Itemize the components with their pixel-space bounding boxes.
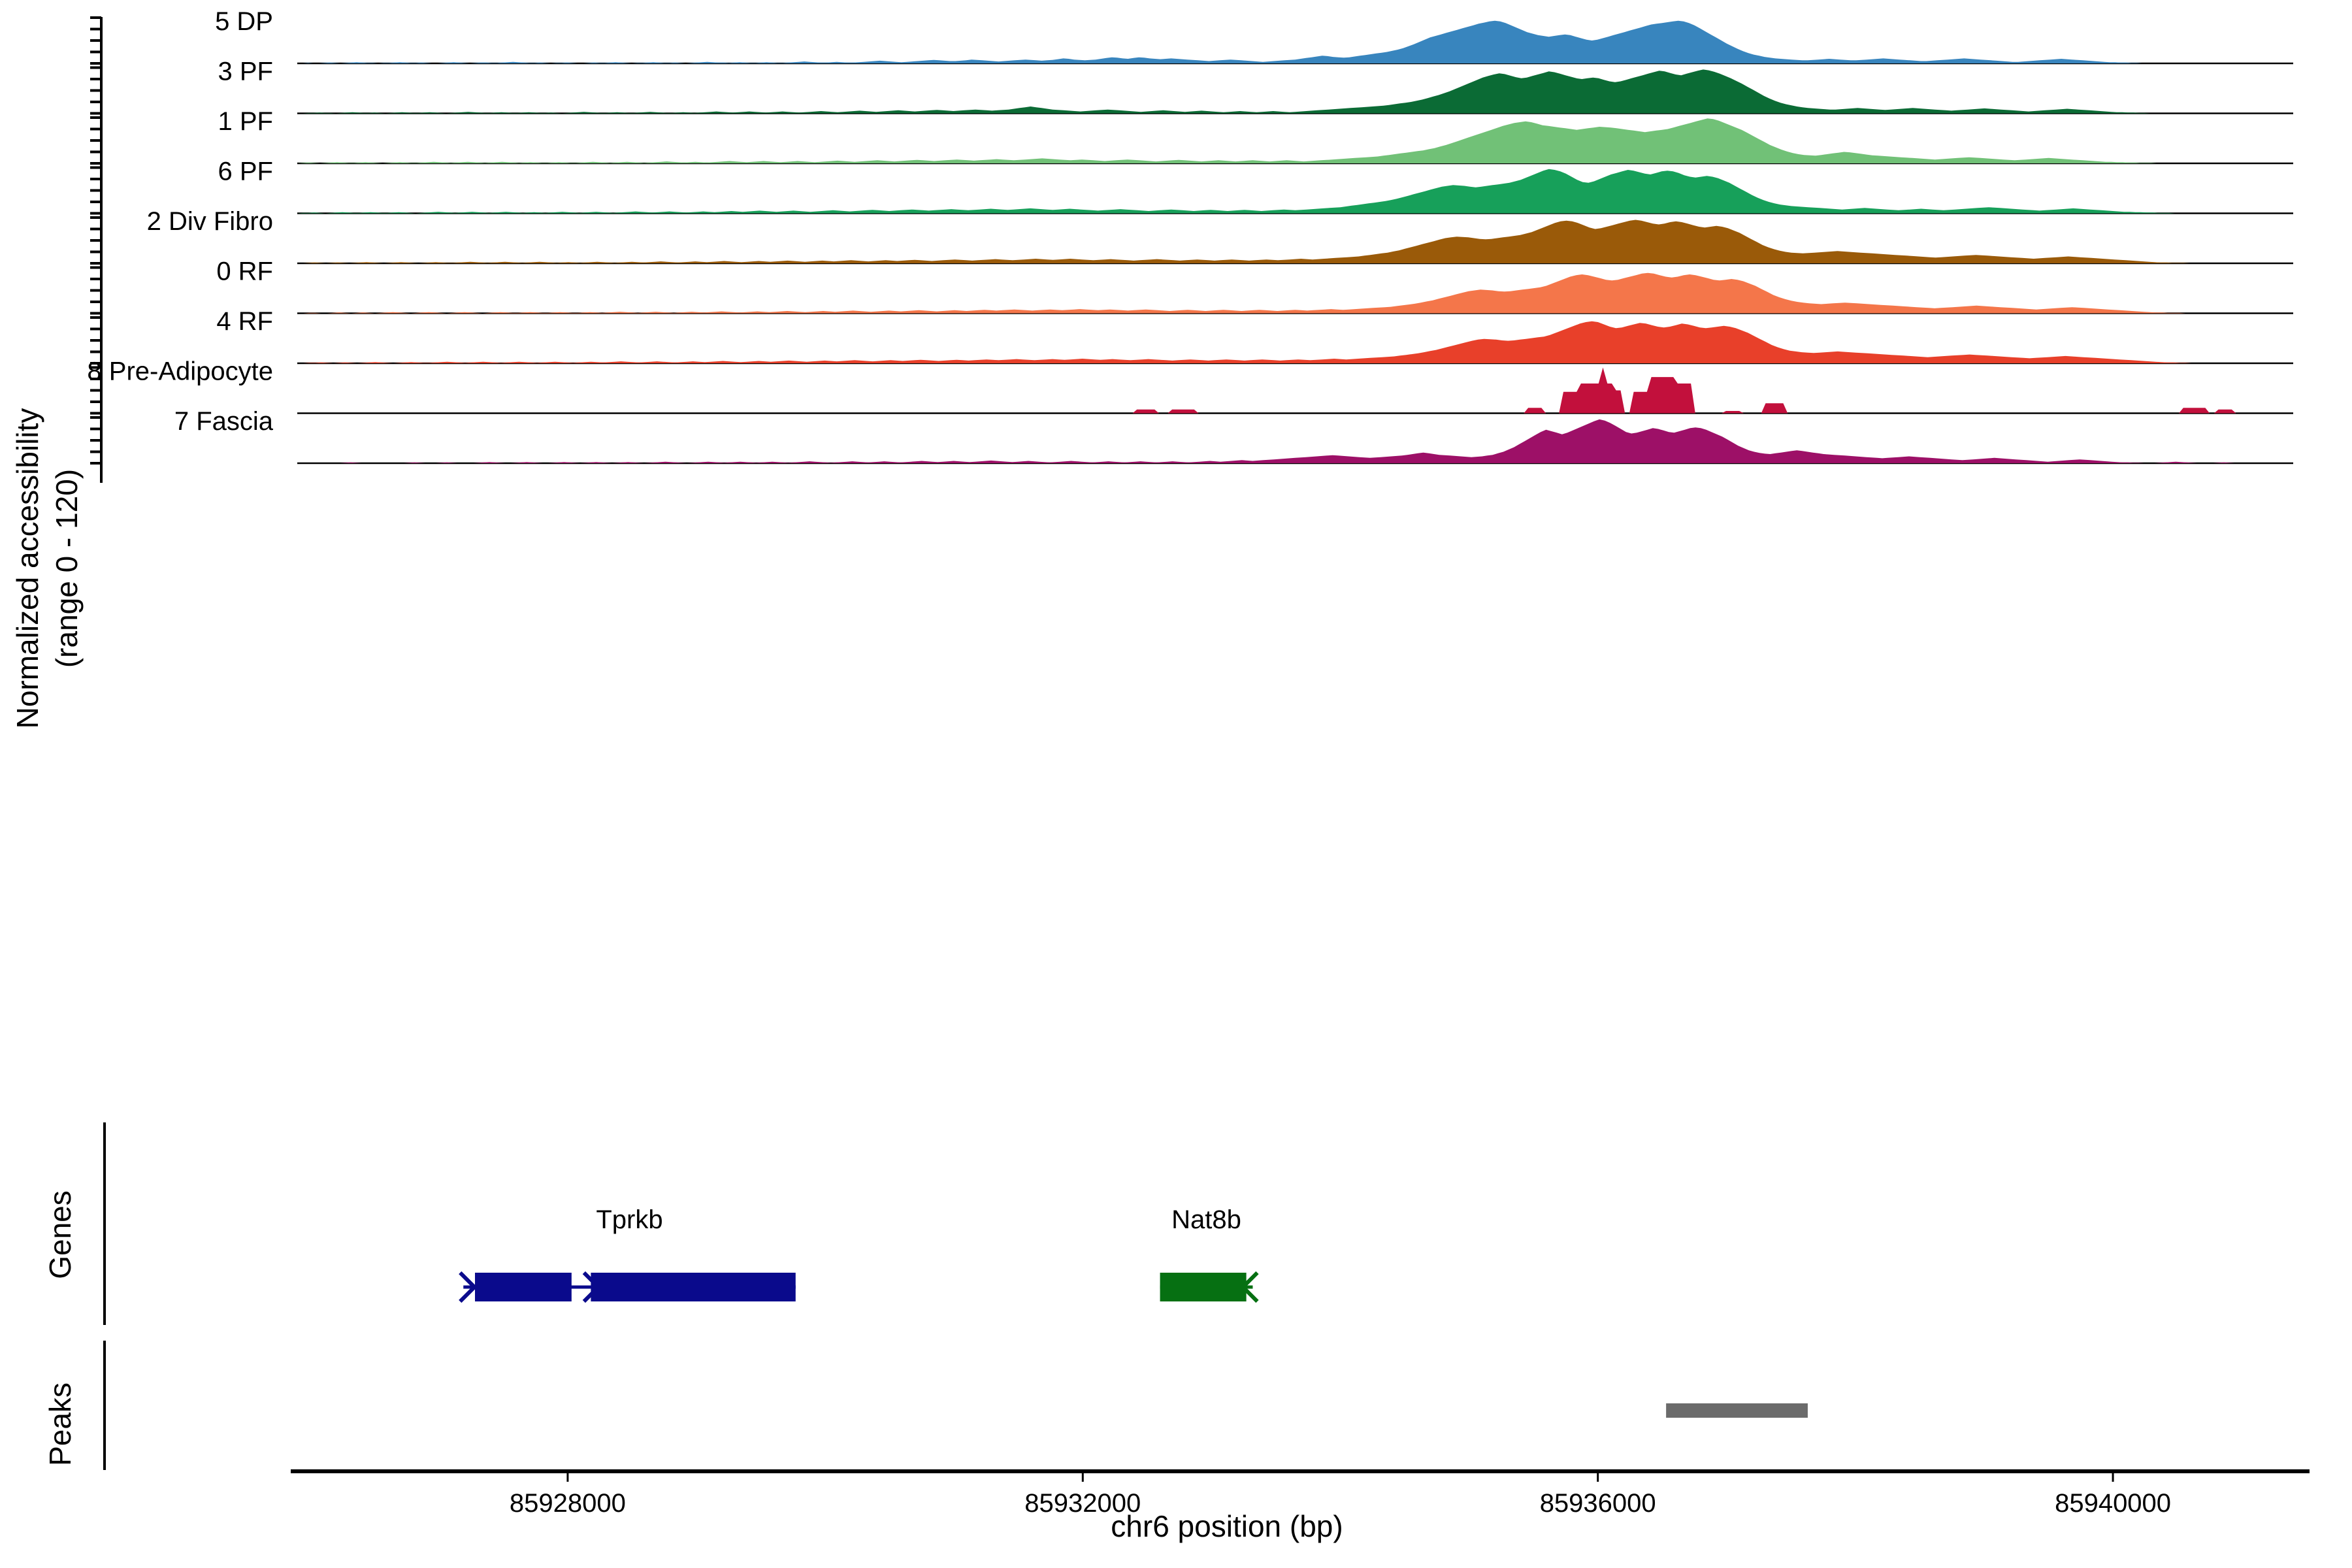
gene-name-label: Tprkb	[596, 1205, 662, 1234]
x-axis-tick-label: 85936000	[1540, 1489, 1656, 1518]
genes-axis-title: Genes	[43, 1190, 77, 1279]
gene-exon	[591, 1273, 795, 1301]
track-label: 0 RF	[216, 257, 273, 286]
gene-name-label: Nat8b	[1171, 1205, 1241, 1234]
genome-browser-figure: Normalized accessibility (range 0 - 120)…	[0, 0, 2352, 1568]
x-axis-tick-label: 85928000	[510, 1489, 626, 1518]
x-axis-tick-label: 85940000	[2055, 1489, 2171, 1518]
gene-exon	[1160, 1273, 1247, 1301]
figure-root: Normalized accessibility (range 0 - 120)…	[0, 0, 2352, 1568]
track-label: 4 RF	[216, 307, 273, 336]
track-label: 3 PF	[218, 57, 273, 86]
y-axis-title-line1: Normalized accessibility	[10, 408, 44, 729]
peaks-axis-title: Peaks	[43, 1382, 77, 1466]
figure-background	[0, 0, 2352, 1568]
peak-bar[interactable]	[1666, 1403, 1808, 1418]
track-label: 6 PF	[218, 157, 273, 186]
track-label: 8 Pre-Adipocyte	[87, 357, 273, 386]
track-label: 2 Div Fibro	[147, 207, 273, 236]
track-label: 1 PF	[218, 107, 273, 136]
x-axis-title: chr6 position (bp)	[1111, 1509, 1343, 1543]
track-label: 7 Fascia	[174, 407, 274, 436]
gene-exon	[475, 1273, 572, 1301]
track-label: 5 DP	[215, 7, 273, 36]
y-axis-title-line2: (range 0 - 120)	[50, 469, 84, 668]
